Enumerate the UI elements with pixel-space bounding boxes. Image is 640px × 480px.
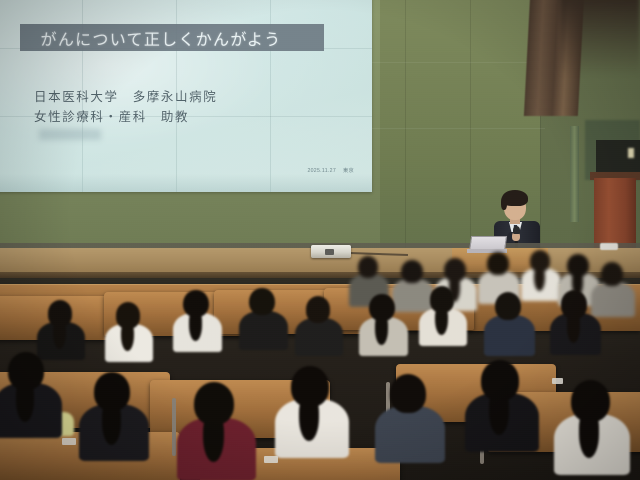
slide-date-stamp: 2025.11.27東京: [307, 167, 354, 174]
audience-member: [116, 302, 168, 366]
podium-light: [628, 148, 634, 158]
projection-screen: がんについて正しくかんがよう 日本医科大学 多摩永山病院 女性診療科・産科 助教…: [0, 0, 372, 192]
wall-seam: [470, 0, 471, 268]
projector-lens: [325, 249, 334, 255]
slide-affiliation-line-1: 日本医科大学 多摩永山病院: [34, 86, 217, 105]
audience-member-head: [571, 380, 610, 422]
slide-affiliation-line-2: 女性診療科・産科 助教: [34, 106, 189, 125]
audience-member-head: [369, 294, 394, 321]
podium-back-panel: [596, 140, 640, 176]
slide-title-bar: がんについて正しくかんがよう: [20, 24, 324, 51]
audience-member-head: [8, 352, 43, 390]
audience-member-head: [567, 254, 588, 277]
audience-member-head: [495, 292, 521, 320]
audience-member: [94, 372, 170, 466]
audience-member-head: [183, 290, 208, 317]
audience-member: [306, 296, 358, 360]
audience-member-head: [487, 252, 508, 275]
audience-member: [291, 366, 370, 463]
microphone-head: [513, 226, 520, 234]
wall-seam: [405, 0, 406, 268]
audience-member: [369, 294, 423, 360]
audience-member-head: [530, 250, 551, 272]
audience-member: [495, 292, 550, 359]
audience-member-head: [94, 372, 130, 411]
audience-member: [194, 382, 279, 480]
desk-item: [600, 243, 618, 250]
audience-member: [390, 374, 466, 468]
audience-member-head: [401, 260, 422, 283]
audience-member: [571, 380, 640, 480]
audience-member: [481, 360, 560, 457]
audience-member-head: [48, 300, 73, 327]
audience-member: [561, 290, 617, 359]
audience-member-head: [291, 366, 329, 407]
slide-presenter-name-redacted: [39, 129, 101, 140]
audience-member-torso: [484, 315, 535, 356]
audience-member: [183, 290, 237, 356]
screen-bottom-shading: [0, 174, 372, 192]
audience-member-head: [561, 290, 588, 319]
audience-member-head: [194, 382, 234, 425]
stage-pillar: [570, 126, 579, 222]
audience-member-head: [390, 374, 426, 413]
photo-scene: がんについて正しくかんがよう 日本医科大学 多摩永山病院 女性診療科・産科 助教…: [0, 0, 640, 480]
audience-member-head: [116, 302, 141, 329]
audience-member-head: [249, 288, 274, 315]
seat-leg: [172, 398, 176, 456]
audience-member-head: [358, 256, 379, 278]
audience-member-head: [306, 296, 331, 323]
presenter-hair-side: [501, 196, 507, 210]
audience-member-head: [430, 286, 455, 313]
audience-member-torso: [239, 311, 289, 351]
audience-member-head: [481, 360, 519, 401]
audience-member: [430, 286, 482, 350]
audience-member-head: [444, 258, 466, 282]
audience-member-torso: [375, 406, 446, 463]
projector: [311, 245, 351, 258]
stage-curtain-shadow: [560, 0, 640, 76]
audience-member-head: [601, 262, 623, 286]
audience-member-torso: [295, 318, 343, 357]
audience-member: [8, 352, 82, 443]
slide-title: がんについて正しくかんがよう: [41, 26, 282, 50]
podium: [594, 178, 636, 250]
